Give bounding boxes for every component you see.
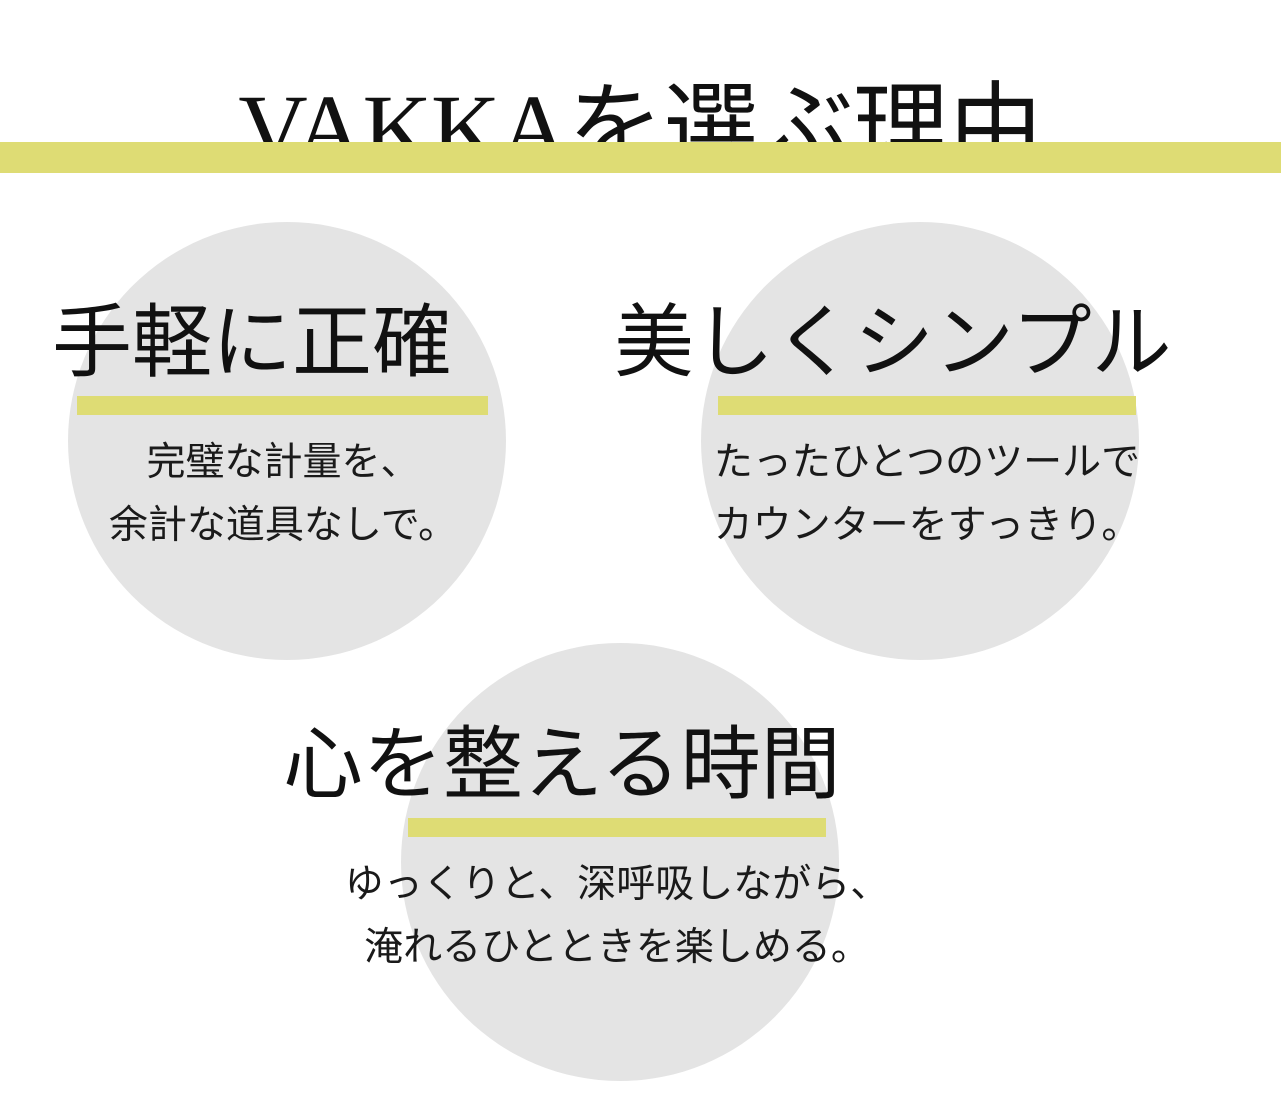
page-title-container: VAKKAを選ぶ理由 bbox=[0, 14, 1281, 244]
feature-card-2-heading: 美しくシンプル bbox=[600, 300, 1260, 390]
feature-card-3-body-line-1: ゆっくりと、深呼吸しながら、 bbox=[337, 853, 897, 916]
feature-card-3-underline bbox=[408, 818, 826, 837]
feature-card-2-body-line-1: たったひとつのツールで bbox=[677, 431, 1177, 494]
feature-card-3: 心を整える時間 ゆっくりと、深呼吸しながら、 淹れるひとときを楽しめる。 bbox=[275, 722, 965, 979]
feature-card-2-body: たったひとつのツールで カウンターをすっきり。 bbox=[677, 431, 1177, 557]
feature-card-1-body: 完璧な計量を、 余計な道具なしで。 bbox=[48, 431, 518, 557]
feature-card-3-heading: 心を整える時間 bbox=[275, 722, 965, 812]
feature-card-3-body-line-2: 淹れるひとときを楽しめる。 bbox=[337, 916, 897, 979]
title-accent-band bbox=[0, 142, 1281, 173]
feature-card-1-heading: 手軽に正確 bbox=[0, 300, 570, 390]
feature-card-3-body: ゆっくりと、深呼吸しながら、 淹れるひとときを楽しめる。 bbox=[337, 853, 897, 979]
feature-card-1: 手軽に正確 完璧な計量を、 余計な道具なしで。 bbox=[0, 300, 570, 557]
infographic-page: VAKKAを選ぶ理由 手軽に正確 完璧な計量を、 余計な道具なしで。 美しくシン… bbox=[0, 0, 1281, 1101]
feature-card-2-body-line-2: カウンターをすっきり。 bbox=[677, 494, 1177, 557]
feature-card-2: 美しくシンプル たったひとつのツールで カウンターをすっきり。 bbox=[600, 300, 1260, 557]
feature-card-1-body-line-2: 余計な道具なしで。 bbox=[48, 494, 518, 557]
feature-card-1-body-line-1: 完璧な計量を、 bbox=[48, 431, 518, 494]
feature-card-2-underline bbox=[718, 396, 1136, 415]
feature-card-1-underline bbox=[77, 396, 488, 415]
